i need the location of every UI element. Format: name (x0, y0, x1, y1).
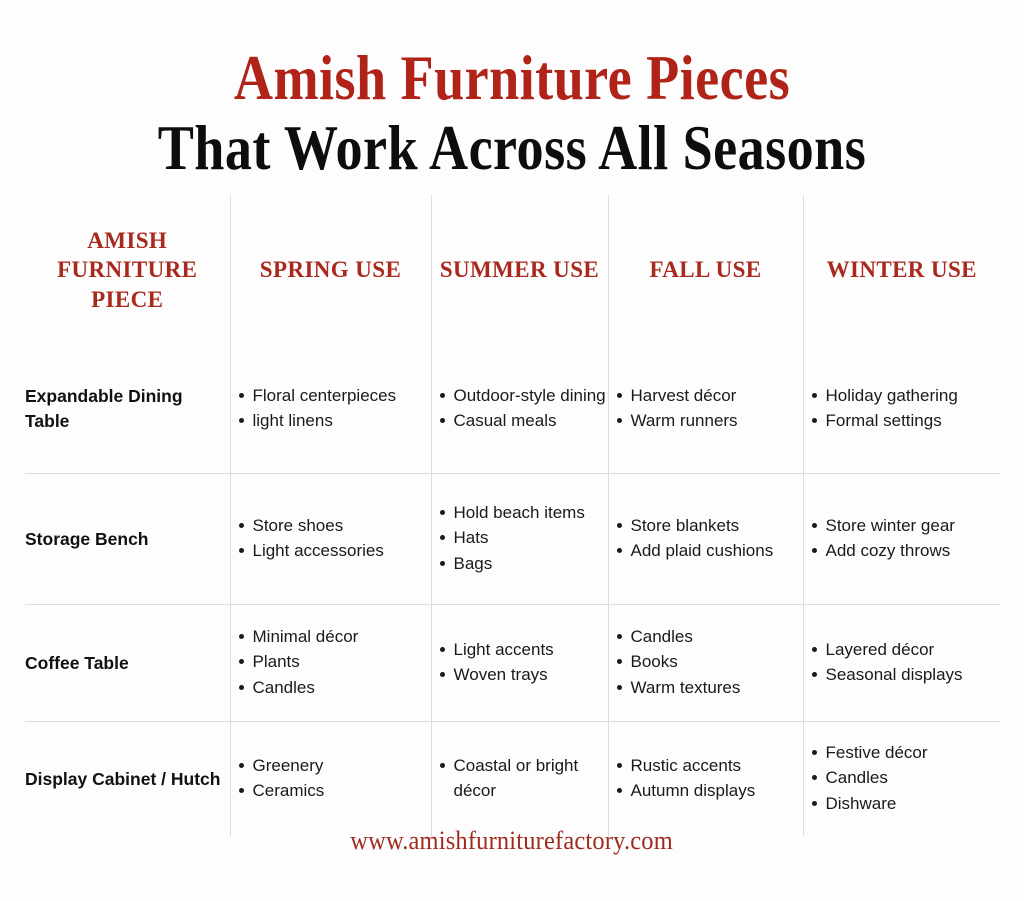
column-header-label: SPRING USE (231, 255, 431, 284)
row-label-coffee-table: Coffee Table (25, 605, 230, 722)
bullet-list: Outdoor-style diningCasual meals (432, 384, 608, 433)
bullet-item: Warm textures (631, 676, 803, 700)
table-row: Coffee Table Minimal décorPlantsCandles … (25, 605, 1000, 722)
bullet-item: Autumn displays (631, 779, 803, 803)
bullet-item: Holiday gathering (826, 384, 1001, 408)
table-header: AMISH FURNITURE PIECE SPRING USE SUMMER … (25, 195, 1000, 345)
cell-spring: Floral centerpieceslight linens (230, 345, 431, 474)
bullet-item: Woven trays (454, 663, 608, 687)
column-header-label: FALL USE (609, 255, 803, 284)
bullet-list: Coastal or bright décor (432, 754, 608, 802)
bullet-item: Floral centerpieces (253, 384, 431, 408)
bullet-item: Hold beach items (454, 501, 608, 525)
cell-summer: Hold beach itemsHatsBags (431, 474, 608, 605)
cell-summer: Coastal or bright décor (431, 722, 608, 837)
cell-fall: CandlesBooksWarm textures (608, 605, 803, 722)
bullet-item: Add cozy throws (826, 539, 1001, 563)
bullet-item: Candles (253, 676, 431, 700)
bullet-list: Rustic accentsAutumn displays (609, 754, 803, 803)
bullet-list: Harvest décorWarm runners (609, 384, 803, 433)
cell-spring: GreeneryCeramics (230, 722, 431, 837)
bullet-list: Festive décorCandlesDishware (804, 741, 1001, 815)
cell-winter: Layered décorSeasonal displays (803, 605, 1000, 722)
cell-winter: Store winter gearAdd cozy throws (803, 474, 1000, 605)
bullet-list: Hold beach itemsHatsBags (432, 501, 608, 575)
table-row: Storage Bench Store shoesLight accessori… (25, 474, 1000, 605)
footer: www.amishfurniturefactory.com (0, 826, 1024, 856)
bullet-list: Floral centerpieceslight linens (231, 384, 431, 433)
column-header-summer-use: SUMMER USE (431, 195, 608, 345)
infographic-page: Amish Furniture Pieces That Work Across … (0, 0, 1024, 901)
cell-summer: Light accentsWoven trays (431, 605, 608, 722)
bullet-item: Light accessories (253, 539, 431, 563)
title-block: Amish Furniture Pieces That Work Across … (0, 0, 1024, 181)
column-header-label: SUMMER USE (432, 255, 608, 284)
cell-fall: Store blanketsAdd plaid cushions (608, 474, 803, 605)
column-header-spring-use: SPRING USE (230, 195, 431, 345)
bullet-list: Minimal décorPlantsCandles (231, 625, 431, 699)
title-line-primary: Amish Furniture Pieces (72, 46, 953, 110)
bullet-list: Layered décorSeasonal displays (804, 638, 1001, 687)
bullet-item: Store shoes (253, 514, 431, 538)
bullet-item: Seasonal displays (826, 663, 1001, 687)
cell-spring: Minimal décorPlantsCandles (230, 605, 431, 722)
bullet-item: Rustic accents (631, 754, 803, 778)
bullet-item: Candles (631, 625, 803, 649)
bullet-list: Light accentsWoven trays (432, 638, 608, 687)
cell-fall: Rustic accentsAutumn displays (608, 722, 803, 837)
bullet-list: GreeneryCeramics (231, 754, 431, 803)
bullet-item: Formal settings (826, 409, 1001, 433)
bullet-item: Hats (454, 526, 608, 550)
cell-spring: Store shoesLight accessories (230, 474, 431, 605)
cell-fall: Harvest décorWarm runners (608, 345, 803, 474)
bullet-item: Outdoor-style dining (454, 384, 608, 408)
bullet-list: CandlesBooksWarm textures (609, 625, 803, 699)
bullet-item: Harvest décor (631, 384, 803, 408)
row-label-display-cabinet-hutch: Display Cabinet / Hutch (25, 722, 230, 837)
cell-summer: Outdoor-style diningCasual meals (431, 345, 608, 474)
comparison-table-wrapper: AMISH FURNITURE PIECE SPRING USE SUMMER … (25, 195, 1000, 810)
bullet-item: Greenery (253, 754, 431, 778)
bullet-item: Plants (253, 650, 431, 674)
bullet-item: Festive décor (826, 741, 1001, 765)
table-row: Display Cabinet / Hutch GreeneryCeramics… (25, 722, 1000, 837)
column-header-furniture-piece: AMISH FURNITURE PIECE (25, 195, 230, 345)
bullet-item: Store blankets (631, 514, 803, 538)
bullet-list: Holiday gatheringFormal settings (804, 384, 1001, 433)
bullet-item: Ceramics (253, 779, 431, 803)
bullet-item: Store winter gear (826, 514, 1001, 538)
bullet-item: light linens (253, 409, 431, 433)
website-url[interactable]: www.amishfurniturefactory.com (351, 826, 674, 856)
column-header-label: WINTER USE (804, 255, 1001, 284)
table-row: Expandable Dining Table Floral centerpie… (25, 345, 1000, 474)
bullet-item: Layered décor (826, 638, 1001, 662)
title-line-secondary: That Work Across All Seasons (72, 116, 953, 180)
seasonal-use-table: AMISH FURNITURE PIECE SPRING USE SUMMER … (25, 195, 1000, 836)
table-body: Expandable Dining Table Floral centerpie… (25, 345, 1000, 836)
bullet-item: Casual meals (454, 409, 608, 433)
bullet-item: Books (631, 650, 803, 674)
bullet-item: Light accents (454, 638, 608, 662)
column-header-fall-use: FALL USE (608, 195, 803, 345)
table-header-row: AMISH FURNITURE PIECE SPRING USE SUMMER … (25, 195, 1000, 345)
bullet-list: Store blanketsAdd plaid cushions (609, 514, 803, 563)
bullet-item: Minimal décor (253, 625, 431, 649)
column-header-winter-use: WINTER USE (803, 195, 1000, 345)
bullet-list: Store winter gearAdd cozy throws (804, 514, 1001, 563)
bullet-item: Candles (826, 766, 1001, 790)
row-label-storage-bench: Storage Bench (25, 474, 230, 605)
bullet-item: Bags (454, 552, 608, 576)
bullet-item: Add plaid cushions (631, 539, 803, 563)
cell-winter: Festive décorCandlesDishware (803, 722, 1000, 837)
bullet-list: Store shoesLight accessories (231, 514, 431, 563)
cell-winter: Holiday gatheringFormal settings (803, 345, 1000, 474)
bullet-item: Dishware (826, 792, 1001, 816)
row-label-expandable-dining-table: Expandable Dining Table (25, 345, 230, 474)
column-header-label: AMISH FURNITURE PIECE (25, 226, 230, 314)
bullet-item: Coastal or bright décor (454, 754, 608, 802)
bullet-item: Warm runners (631, 409, 803, 433)
